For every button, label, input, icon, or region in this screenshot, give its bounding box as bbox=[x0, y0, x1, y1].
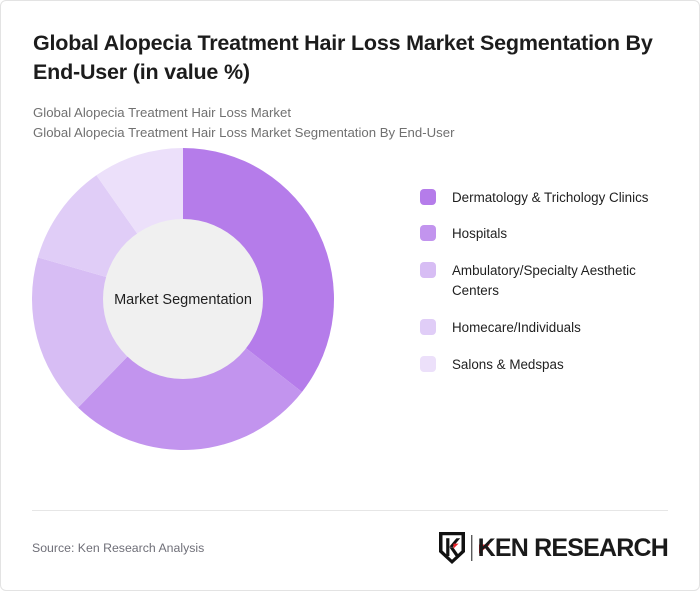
legend-item[interactable]: Ambulatory/Specialty Aesthetic Centers bbox=[420, 261, 670, 301]
legend-item[interactable]: Dermatology & Trichology Clinics bbox=[420, 188, 670, 208]
chart-body: Market Segmentation Dermatology & Tricho… bbox=[1, 144, 699, 474]
source-note: Source: Ken Research Analysis bbox=[32, 541, 204, 555]
chart-legend: Dermatology & Trichology ClinicsHospital… bbox=[420, 188, 670, 375]
logo-divider-bar bbox=[467, 534, 476, 562]
logo-wordmark: KEN RESEARCH bbox=[478, 534, 668, 563]
legend-swatch-icon bbox=[420, 356, 436, 372]
subtitle-block: Global Alopecia Treatment Hair Loss Mark… bbox=[33, 103, 667, 143]
legend-item-label: Ambulatory/Specialty Aesthetic Centers bbox=[452, 261, 652, 301]
legend-item-label: Salons & Medspas bbox=[452, 355, 564, 375]
legend-item[interactable]: Homecare/Individuals bbox=[420, 318, 670, 338]
ken-research-logo: KEN RESEARCH bbox=[437, 531, 668, 565]
legend-item-label: Dermatology & Trichology Clinics bbox=[452, 188, 648, 208]
legend-swatch-icon bbox=[420, 189, 436, 205]
chart-card: Global Alopecia Treatment Hair Loss Mark… bbox=[0, 0, 700, 591]
donut-chart-svg: Market Segmentation bbox=[32, 148, 334, 450]
legend-swatch-icon bbox=[420, 262, 436, 278]
legend-item-label: Hospitals bbox=[452, 224, 507, 244]
legend-swatch-icon bbox=[420, 319, 436, 335]
legend-swatch-icon bbox=[420, 225, 436, 241]
subtitle-line-2: Global Alopecia Treatment Hair Loss Mark… bbox=[33, 123, 667, 143]
donut-chart: Market Segmentation bbox=[32, 148, 334, 450]
footer-divider bbox=[32, 510, 668, 511]
legend-item[interactable]: Hospitals bbox=[420, 224, 670, 244]
ken-research-shield-k-logo-icon bbox=[437, 531, 467, 565]
chart-header: Global Alopecia Treatment Hair Loss Mark… bbox=[1, 1, 699, 144]
subtitle-line-1: Global Alopecia Treatment Hair Loss Mark… bbox=[33, 103, 667, 123]
donut-center-label: Market Segmentation bbox=[114, 292, 252, 308]
legend-item-label: Homecare/Individuals bbox=[452, 318, 581, 338]
legend-item[interactable]: Salons & Medspas bbox=[420, 355, 670, 375]
page-title: Global Alopecia Treatment Hair Loss Mark… bbox=[33, 29, 667, 86]
chart-footer: Source: Ken Research Analysis KEN RESEAR… bbox=[32, 526, 668, 570]
